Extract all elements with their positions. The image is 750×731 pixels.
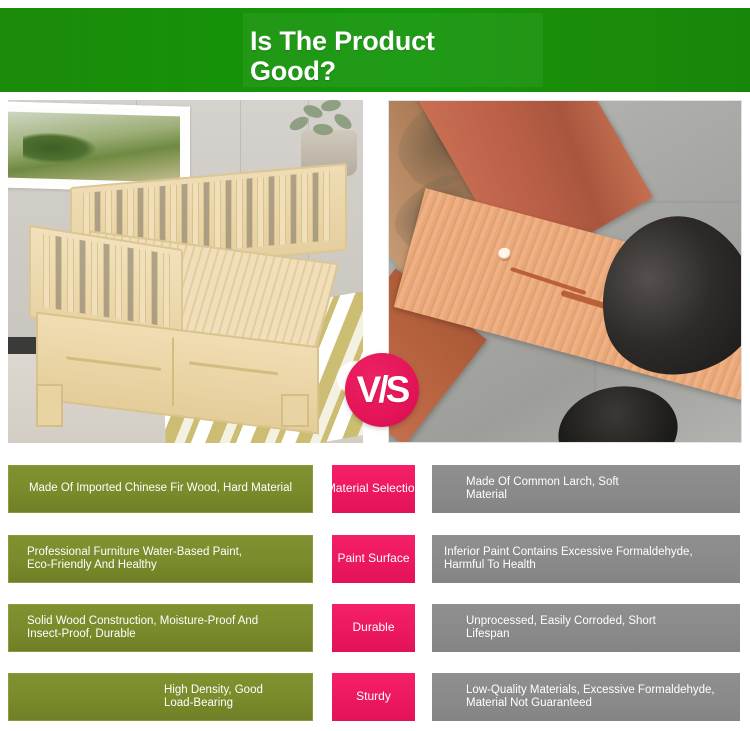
- comparison-table: Made Of Imported Chinese Fir Wood, Hard …: [0, 443, 750, 731]
- drawer-divider: [172, 337, 174, 406]
- table-row: High Density, Good Load-Bearing Sturdy L…: [0, 673, 750, 721]
- plant-leaves: [287, 100, 361, 154]
- table-row: Professional Furniture Water-Based Paint…: [0, 535, 750, 583]
- criteria-label: Durable: [332, 604, 415, 652]
- nail-hole: [497, 246, 513, 262]
- con-cell: Inferior Paint Contains Excessive Formal…: [432, 535, 740, 583]
- pro-cell: Made Of Imported Chinese Fir Wood, Hard …: [8, 465, 313, 513]
- bad-product-photo: [388, 100, 742, 443]
- criteria-label-text: Material Selection: [326, 482, 421, 496]
- bed-leg: [281, 394, 309, 428]
- infographic-page: Is The Product Good?: [0, 0, 750, 731]
- vs-label: V/S: [345, 353, 419, 427]
- wooden-bed: [15, 175, 356, 422]
- con-cell: Unprocessed, Easily Corroded, Short Life…: [432, 604, 740, 652]
- table-row: Made Of Imported Chinese Fir Wood, Hard …: [0, 465, 750, 513]
- drawer-handle: [188, 360, 277, 374]
- criteria-label: Sturdy: [332, 673, 415, 721]
- drawer-handle: [65, 355, 160, 370]
- page-title: Is The Product Good?: [250, 26, 580, 86]
- con-cell: Made Of Common Larch, Soft Material: [432, 465, 740, 513]
- bed-leg: [36, 384, 64, 428]
- pro-cell: Solid Wood Construction, Moisture-Proof …: [8, 604, 313, 652]
- con-cell: Low-Quality Materials, Excessive Formald…: [432, 673, 740, 721]
- criteria-label-text: Sturdy: [356, 690, 391, 704]
- good-product-photo: [8, 100, 363, 443]
- pro-cell: High Density, Good Load-Bearing: [8, 673, 313, 721]
- criteria-label: Material Selection: [332, 465, 415, 513]
- criteria-label-text: Paint Surface: [337, 552, 409, 566]
- criteria-label-text: Durable: [352, 621, 394, 635]
- table-row: Solid Wood Construction, Moisture-Proof …: [0, 604, 750, 652]
- header-banner: Is The Product Good?: [0, 8, 750, 92]
- criteria-label: Paint Surface: [332, 535, 415, 583]
- framed-picture-art: [8, 112, 180, 183]
- photo-comparison-area: V/S: [0, 100, 750, 443]
- pro-cell: Professional Furniture Water-Based Paint…: [8, 535, 313, 583]
- wood-crack: [510, 268, 586, 296]
- vs-badge: V/S: [345, 353, 419, 427]
